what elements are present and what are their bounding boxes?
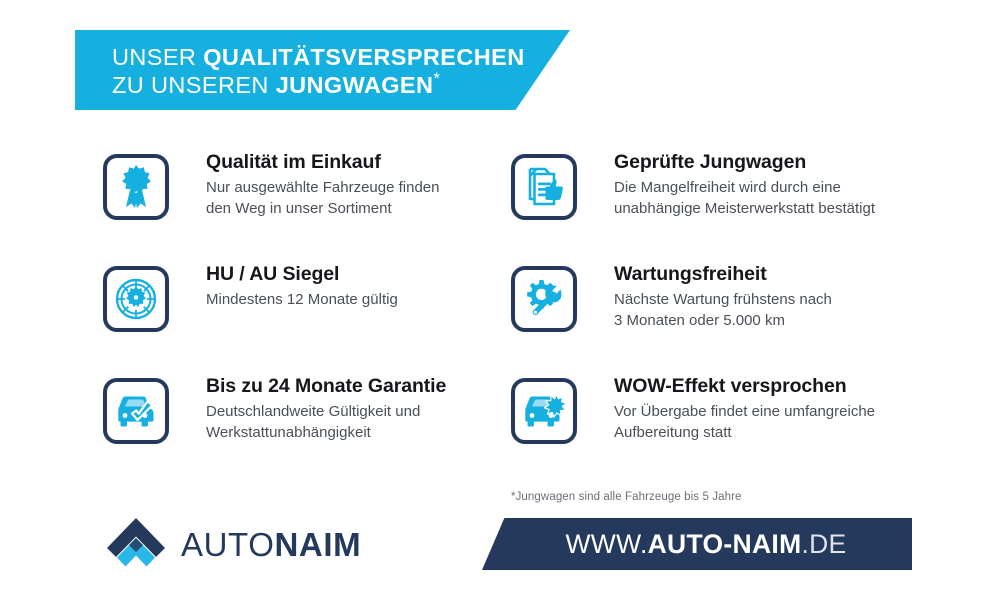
banner-line-1-normal: UNSER [112,44,203,70]
gear-wrench-icon [511,266,577,332]
feature-description-line-1: Deutschlandweite Gültigkeit und [206,402,536,423]
url-prefix: WWW. [565,529,647,559]
banner-line-2: ZU UNSEREN JUNGWAGEN* [112,71,570,99]
banner-line-1: UNSER QUALITÄTSVERSPRECHEN [112,43,570,71]
feature-description: Nur ausgewählte Fahrzeuge finden den Weg… [206,178,536,219]
award-rosette-icon [103,154,169,220]
feature-title: HU / AU Siegel [206,262,536,286]
footnote-text: *Jungwagen sind alle Fahrzeuge bis 5 Jah… [511,491,742,503]
feature-description: Deutschlandweite Gültigkeit und Werkstat… [206,402,536,443]
feature-title: Geprüfte Jungwagen [614,150,964,174]
feature-title: Wartungsfreiheit [614,262,964,286]
feature-description-line-2: den Weg in unser Sortiment [206,199,536,220]
feature-item-garantie: Bis zu 24 Monate Garantie Deutschlandwei… [103,374,503,486]
feature-text: Geprüfte Jungwagen Die Mangelfreiheit wi… [614,150,964,219]
feature-description-line-2: 3 Monaten oder 5.000 km [614,311,964,332]
feature-title: Bis zu 24 Monate Garantie [206,374,536,398]
brand-logo-word-auto: AUTO [181,526,274,563]
brand-logo: AUTONAIM [105,516,361,572]
banner-line-2-normal: ZU UNSEREN [112,72,276,98]
document-thumbsup-icon [511,154,577,220]
feature-description-line-2: Werkstattunabhängigkeit [206,423,536,444]
feature-item-hu-au-siegel: HU / AU Siegel Mindestens 12 Monate gült… [103,262,503,374]
feature-description: Nächste Wartung frühstens nach 3 Monaten… [614,290,964,331]
feature-text: HU / AU Siegel Mindestens 12 Monate gült… [206,262,536,311]
feature-item-wartungsfreiheit: Wartungsfreiheit Nächste Wartung frühste… [511,262,931,374]
feature-description: Die Mangelfreiheit wird durch eine unabh… [614,178,964,219]
feature-description-line-2: Aufbereitung statt [614,423,964,444]
feature-description-line-1: Mindestens 12 Monate gültig [206,290,536,311]
feature-description: Mindestens 12 Monate gültig [206,290,536,311]
feature-description: Vor Übergabe findet eine umfangreiche Au… [614,402,964,443]
feature-description-line-2: unabhängige Meisterwerkstatt bestätigt [614,199,964,220]
brand-logo-word-naim: NAIM [274,526,361,563]
feature-description-line-1: Nur ausgewählte Fahrzeuge finden [206,178,536,199]
feature-column-right: Geprüfte Jungwagen Die Mangelfreiheit wi… [511,150,931,486]
feature-description-line-1: Die Mangelfreiheit wird durch eine [614,178,964,199]
banner-line-2-bold: JUNGWAGEN [276,72,434,98]
car-sparkle-icon [511,378,577,444]
url-tld: .DE [801,529,846,559]
feature-text: Wartungsfreiheit Nächste Wartung frühste… [614,262,964,331]
feature-text: Bis zu 24 Monate Garantie Deutschlandwei… [206,374,536,443]
feature-description-line-1: Nächste Wartung frühstens nach [614,290,964,311]
car-check-icon [103,378,169,444]
banner-line-1-bold: QUALITÄTSVERSPRECHEN [203,44,524,70]
feature-item-wow-effekt: WOW-Effekt versprochen Vor Übergabe find… [511,374,931,486]
website-url-bar: WWW.AUTO-NAIM.DE [482,518,912,570]
header-banner: UNSER QUALITÄTSVERSPRECHEN ZU UNSEREN JU… [75,30,570,110]
inspection-seal-icon [103,266,169,332]
feature-title: WOW-Effekt versprochen [614,374,964,398]
feature-column-left: Qualität im Einkauf Nur ausgewählte Fahr… [103,150,503,486]
brand-logo-wordmark: AUTONAIM [181,528,361,561]
autonaim-chevron-logo-icon [105,516,167,572]
website-url-text: WWW.AUTO-NAIM.DE [565,529,846,560]
feature-description-line-1: Vor Übergabe findet eine umfangreiche [614,402,964,423]
feature-item-qualitaet-im-einkauf: Qualität im Einkauf Nur ausgewählte Fahr… [103,150,503,262]
feature-item-geprüfte-jungwagen: Geprüfte Jungwagen Die Mangelfreiheit wi… [511,150,931,262]
banner-footnote-asterisk: * [433,69,440,88]
feature-text: Qualität im Einkauf Nur ausgewählte Fahr… [206,150,536,219]
feature-text: WOW-Effekt versprochen Vor Übergabe find… [614,374,964,443]
feature-title: Qualität im Einkauf [206,150,536,174]
url-domain: AUTO-NAIM [648,529,802,559]
